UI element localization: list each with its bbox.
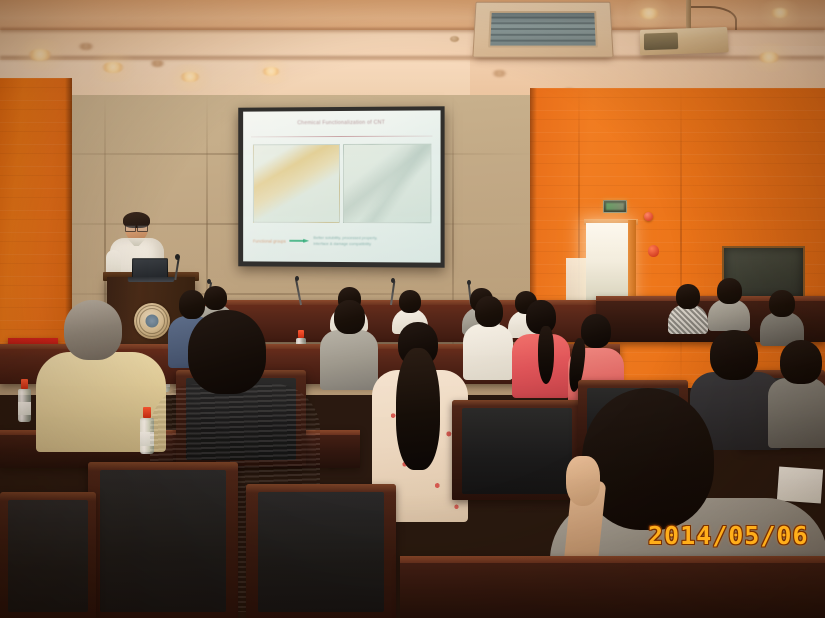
person-head [710, 330, 758, 380]
long-hair [396, 348, 440, 470]
recessed-downlight-off [150, 60, 165, 67]
person-head [717, 278, 742, 304]
air-conditioner-grille [488, 11, 598, 48]
person-head [399, 290, 421, 313]
water-bottle [18, 378, 31, 422]
projected-slide: Chemical Functionalization of CNT Functi… [243, 110, 440, 262]
audience-person [708, 278, 750, 326]
chair-backrest [100, 470, 226, 612]
fire-alarm-bell-icon [644, 212, 653, 221]
recessed-downlight [758, 52, 780, 63]
slide-footer-label: Functional groups [253, 238, 286, 243]
laptop-base [128, 277, 174, 282]
projector [640, 27, 729, 55]
projector-lens [644, 32, 678, 50]
bottle-label [18, 402, 31, 415]
person-head [334, 300, 365, 334]
person-head [676, 284, 700, 309]
chair-backrest [258, 492, 384, 612]
chair-backrest [8, 500, 89, 612]
person-head [769, 290, 795, 317]
recessed-downlight [28, 49, 52, 61]
slide-footer-text: Better solubility, processed property, i… [313, 235, 377, 247]
person-head [475, 296, 503, 327]
laptop-screen [132, 258, 168, 279]
slide-figure-right [343, 144, 431, 224]
recessed-downlight [262, 67, 280, 76]
presenter-laptop [128, 258, 174, 282]
eyeglasses-icon [125, 225, 148, 230]
chair [88, 462, 238, 618]
air-conditioner-unit [472, 2, 613, 58]
smoke-detector [450, 36, 459, 42]
chair-rail [578, 380, 688, 386]
slide-footer: Functional groups Better solubility, pro… [253, 229, 431, 254]
person-head [64, 300, 122, 360]
slide-title-rule [251, 136, 432, 138]
recessed-downlight [180, 72, 200, 82]
desk-edge [400, 556, 825, 563]
person-torso [320, 330, 378, 390]
projection-screen: Chemical Functionalization of CNT Functi… [238, 106, 444, 267]
recessed-downlight-off [492, 70, 507, 77]
camera-date-stamp: 2014/05/06 [648, 521, 809, 550]
audience-person-gray-tshirt [320, 300, 378, 388]
desk-row-foreground [400, 556, 825, 618]
microphone-head-icon [295, 276, 299, 281]
person-torso [463, 324, 513, 380]
person-head [780, 340, 822, 384]
chair [246, 484, 396, 618]
conference-photo: Chemical Functionalization of CNT Functi… [0, 0, 825, 618]
ponytail [538, 326, 554, 384]
person-head [581, 314, 611, 348]
audience-person [668, 284, 708, 330]
slide-title: Chemical Functionalization of CNT [243, 119, 440, 126]
microphone-head-icon [175, 254, 180, 260]
recessed-downlight-off [78, 43, 94, 50]
green-arrow-icon [290, 239, 310, 243]
microphone-head-icon [207, 279, 211, 284]
recessed-downlight [770, 8, 790, 18]
recessed-downlight [102, 62, 124, 73]
bottle-cap-icon [21, 379, 28, 389]
exit-sign-icon [603, 200, 627, 213]
recessed-downlight [638, 8, 660, 19]
person-hand [566, 456, 600, 506]
microphone-head-icon [391, 278, 395, 283]
audience-person-pink-top [512, 300, 570, 396]
audience-person [463, 296, 513, 378]
fire-alarm-bell-icon [648, 245, 659, 257]
slide-figure-row [253, 144, 431, 224]
slide-figure-left [253, 144, 340, 223]
microphone-head-icon [467, 280, 471, 285]
chair [0, 492, 96, 618]
person-head [188, 310, 266, 394]
